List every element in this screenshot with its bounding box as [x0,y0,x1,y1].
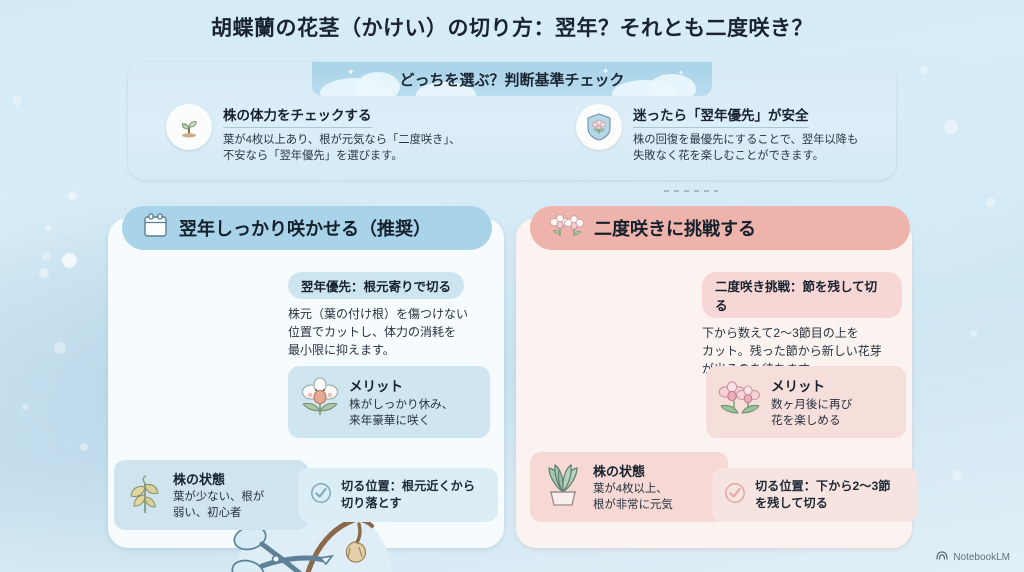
next-year-body: 株元（葉の付け根）を傷つけない 位置でカットし、体力の消耗を 最小限に抑えます。 [288,305,492,360]
next-year-cut-position: 切る位置：根元近くから 切り落とす [298,468,498,522]
bokeh-dot [920,66,928,74]
bokeh-dot [54,342,66,354]
bokeh-dot [944,120,958,134]
bokeh-dot [39,268,49,278]
criteria-card: ✦ ✦ ✦ どっちを選ぶ？判断基準チェック 株の体力をチェックする 葉が4枚以上… [128,62,896,180]
watermark: NotebookLM [936,550,1010,564]
next-year-merit-body: 株がしっかり休み、 来年豪華に咲く [349,397,453,429]
check-circle-icon [310,482,332,509]
criteria-item-safe-choice: 迷ったら「翌年優先」が安全 株の回復を最優先にすることで、翌年以降も 失敗なく花… [576,104,886,164]
second-bloom-state-heading: 株の状態 [593,461,673,480]
bokeh-dot [42,252,51,261]
second-bloom-merit: メリット 数ヶ月後に再び 花を楽しめる [706,366,906,438]
criteria-body: 株の回復を最優先にすることで、翌年以降も 失敗なく花を楽しむことができます。 [633,132,858,164]
bokeh-dot [986,198,995,207]
bokeh-dot [970,330,977,337]
next-year-merit: メリット 株がしっかり休み、 来年豪華に咲く [288,366,490,438]
criteria-band-label: どっちを選ぶ？判断基準チェック [312,62,712,96]
next-year-state-heading: 株の状態 [173,469,264,488]
white-orchid-icon [300,377,340,426]
bokeh-dot [62,253,77,268]
panel-next-year: 翌年しっかり咲かせる（推奨） [108,218,504,548]
second-bloom-state: 株の状態 葉が4枚以上、 根が非常に元気 [530,452,728,522]
next-year-pill: 翌年優先：根元寄りで切る [288,272,464,299]
criteria-heading: 迷ったら「翌年優先」が安全 [633,104,809,128]
connector-dots [664,190,718,192]
second-bloom-cut-info: 二度咲き挑戦：節を残して切る 下から数えて2〜3節目の上を カット。残った節から… [702,272,902,379]
second-bloom-merit-heading: メリット [771,375,852,395]
bokeh-dot [952,470,962,480]
next-year-cut-text: 切る位置：根元近くから 切り落とす [341,478,475,512]
panel-second-bloom: 二度咲きに挑戦する [516,218,912,548]
second-bloom-state-body: 葉が4枚以上、 根が非常に元気 [593,482,673,513]
page-title: 胡蝶蘭の花茎（かけい）の切り方：翌年？それとも二度咲き？ [0,12,1024,42]
potted-plant-icon [541,462,585,513]
next-year-merit-heading: メリット [349,375,453,395]
shield-orchid-icon [576,104,622,150]
next-year-state: 株の状態 葉が少ない、根が 弱い、初心者 [114,460,308,530]
bokeh-dot [22,404,28,410]
criteria-item-vitality: 株の体力をチェックする 葉が4枚以上あり、根が元気なら「二度咲き」、 不安なら「… [166,104,506,164]
notebooklm-logo-icon [936,550,948,564]
second-bloom-merit-body: 数ヶ月後に再び 花を楽しめる [771,397,852,429]
seedling-icon [166,104,212,150]
check-circle-icon [724,482,746,509]
panel-next-year-header[interactable]: 翌年しっかり咲かせる（推奨） [122,206,492,250]
wilting-plant-icon [125,471,165,520]
criteria-body: 葉が4枚以上あり、根が元気なら「二度咲き」、 不安なら「翌年優先」を選びます。 [223,132,460,164]
second-bloom-cut-text: 切る位置：下から2〜3節 を残して切る [755,478,890,512]
pink-orchid-icon [718,377,762,426]
panel-next-year-title: 翌年しっかり咲かせる（推奨） [179,215,431,241]
next-year-state-body: 葉が少ない、根が 弱い、初心者 [173,490,264,521]
orchid-pair-icon [550,212,584,245]
bokeh-dot [45,225,52,232]
panel-second-bloom-header[interactable]: 二度咲きに挑戦する [530,206,910,250]
next-year-cut-info: 翌年優先：根元寄りで切る 株元（葉の付け根）を傷つけない 位置でカットし、体力の… [288,272,492,360]
calendar-icon [142,212,169,244]
second-bloom-cut-position: 切る位置：下から2〜3節 を残して切る [712,468,918,522]
bokeh-dot [80,443,88,451]
second-bloom-pill: 二度咲き挑戦：節を残して切る [702,272,902,318]
criteria-heading: 株の体力をチェックする [223,104,372,128]
bokeh-dot [68,191,77,200]
bokeh-dot [12,96,22,106]
watermark-label: NotebookLM [953,552,1010,563]
panel-second-bloom-title: 二度咲きに挑戦する [594,215,756,241]
infographic-canvas: 胡蝶蘭の花茎（かけい）の切り方：翌年？それとも二度咲き？ ✦ ✦ ✦ どっちを選… [0,0,1024,572]
